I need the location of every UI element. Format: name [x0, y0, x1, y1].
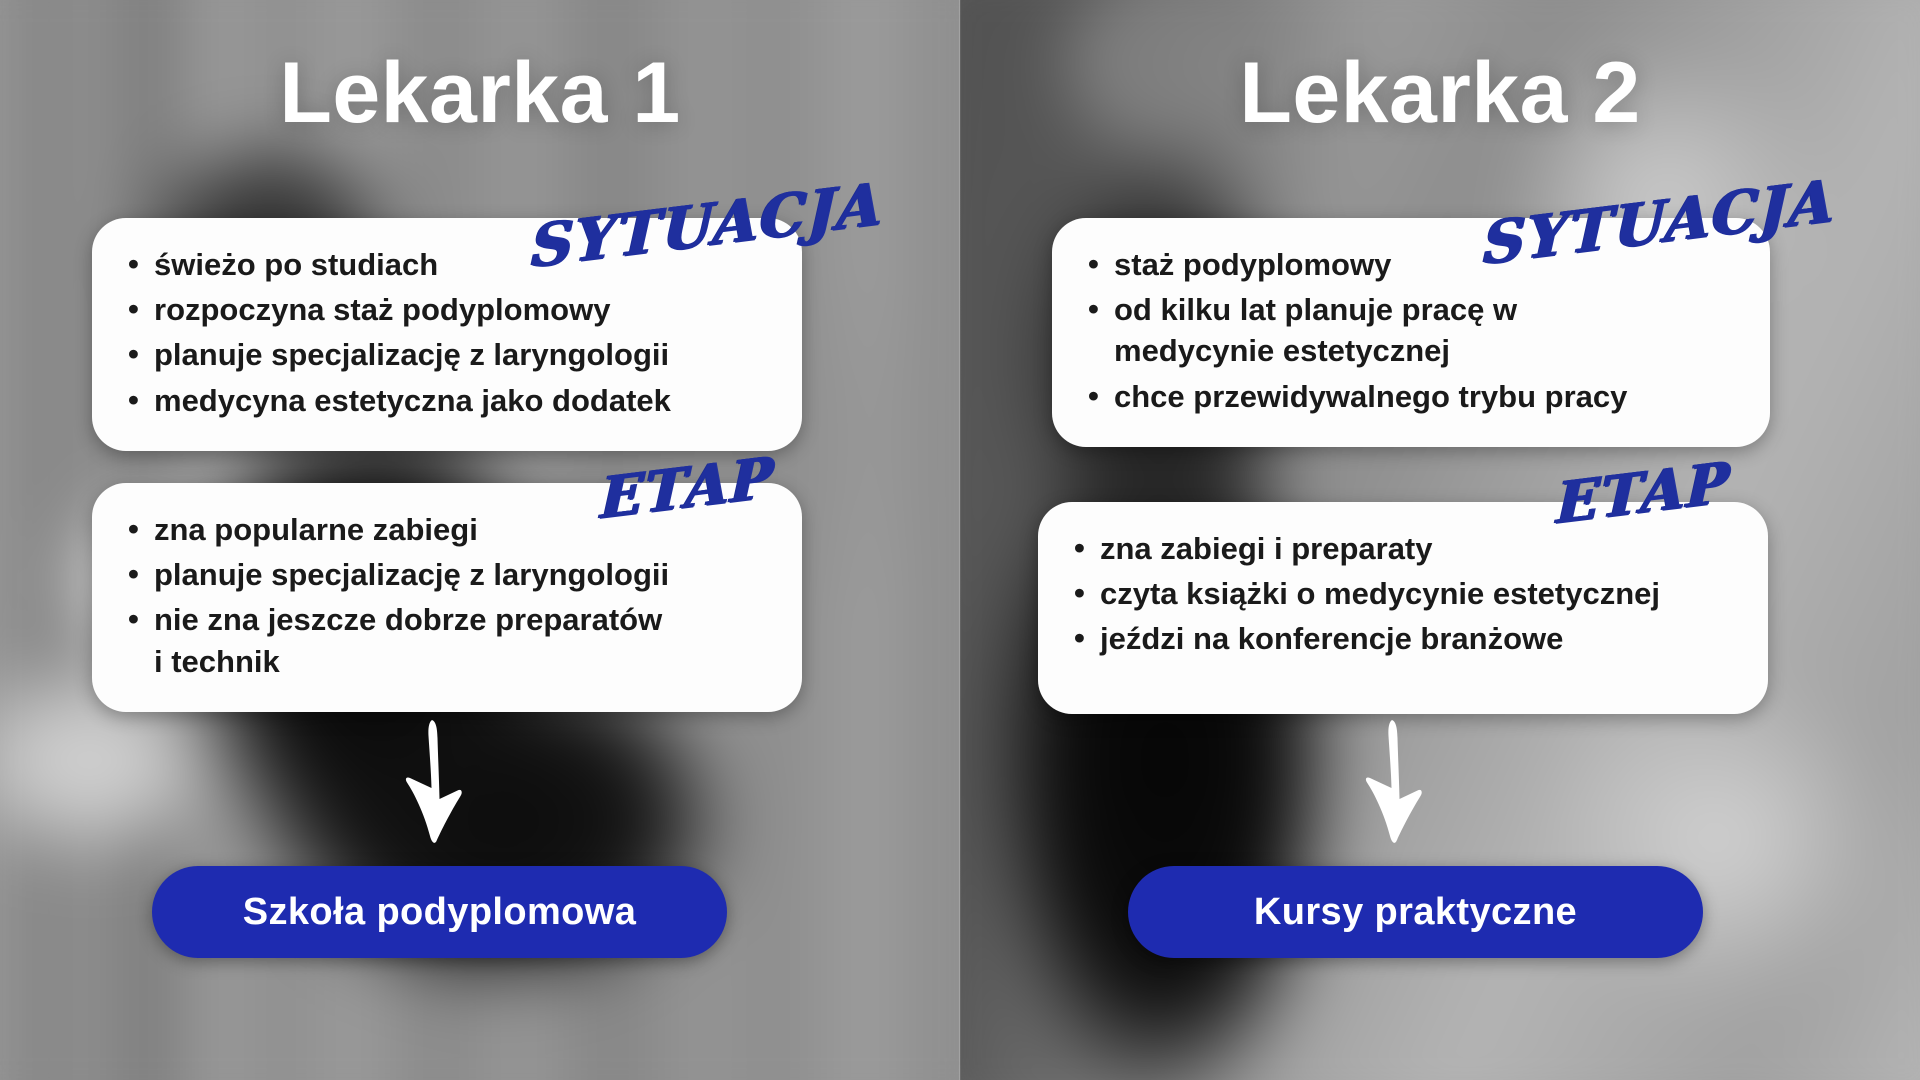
- comparison-infographic: Lekarka 1 świeżo po studiach rozpoczyna …: [0, 0, 1920, 1080]
- cta-button-left[interactable]: Szkoła podyplomowa: [152, 866, 727, 958]
- list-item: planuje specjalizację z laryngologii: [128, 334, 776, 375]
- list-item: od kilku lat planuje pracę w medycynie e…: [1088, 289, 1744, 371]
- list-item: zna zabiegi i preparaty: [1074, 528, 1742, 569]
- list-item: chce przewidywalnego trybu pracy: [1088, 376, 1744, 417]
- stage-bullet-list-right: zna zabiegi i preparaty czyta książki o …: [1038, 502, 1768, 690]
- arrow-down-icon: [384, 718, 484, 848]
- stage-card-right: zna zabiegi i preparaty czyta książki o …: [1038, 502, 1768, 714]
- list-item: medycyna estetyczna jako dodatek: [128, 380, 776, 421]
- list-item: czyta książki o medycynie estetycznej: [1074, 573, 1742, 614]
- panel-lekarka-2: Lekarka 2 staż podyplomowy od kilku lat …: [960, 0, 1920, 1080]
- list-item: planuje specjalizację z laryngologii: [128, 554, 776, 595]
- panel-lekarka-1: Lekarka 1 świeżo po studiach rozpoczyna …: [0, 0, 960, 1080]
- page-title-right: Lekarka 2: [960, 50, 1920, 136]
- page-title-left: Lekarka 1: [0, 50, 960, 136]
- cta-button-right[interactable]: Kursy praktyczne: [1128, 866, 1703, 958]
- list-item: nie zna jeszcze dobrze preparatów i tech…: [128, 599, 776, 681]
- list-item: jeździ na konferencje branżowe: [1074, 618, 1742, 659]
- arrow-down-icon: [1344, 718, 1444, 848]
- list-item: rozpoczyna staż podyplomowy: [128, 289, 776, 330]
